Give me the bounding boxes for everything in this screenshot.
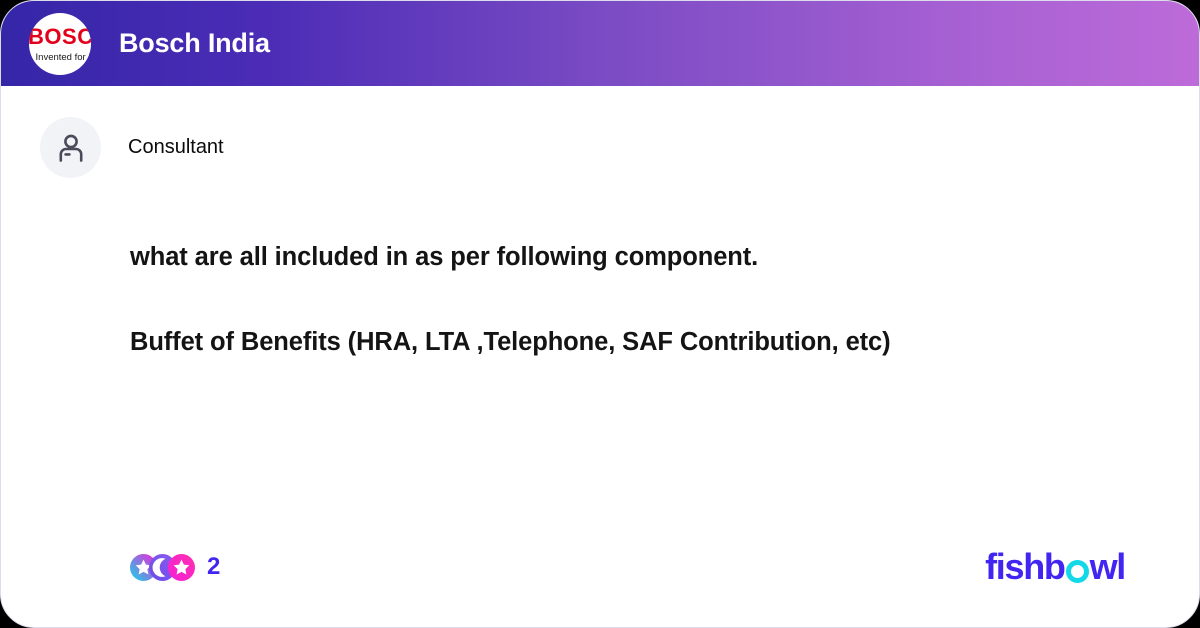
post-line: what are all included in as per followin… (130, 242, 1139, 273)
reaction-badges[interactable] (130, 554, 195, 581)
author-row: Consultant (1, 86, 1199, 178)
card-header: BOSCH Invented for life Bosch India (1, 1, 1199, 86)
bosch-logo-tagline: Invented for life (36, 53, 91, 63)
bosch-logo: BOSCH Invented for life (29, 13, 91, 75)
post-card: BOSCH Invented for life Bosch India Cons… (0, 0, 1200, 628)
fishbowl-logo-text-end: wl (1090, 549, 1125, 585)
bosch-logo-wordmark: BOSCH (29, 26, 91, 48)
card-footer: 2 fishb o wl (1, 543, 1199, 591)
reaction-count: 2 (207, 555, 220, 579)
fishbowl-logo-text-start: fishb (985, 549, 1065, 585)
post-line: Buffet of Benefits (HRA, LTA ,Telephone,… (130, 327, 1139, 358)
star-reaction-icon[interactable] (168, 554, 195, 581)
card-body: Consultant what are all included in as p… (1, 86, 1199, 627)
post-text: what are all included in as per followin… (1, 242, 1199, 357)
person-icon (54, 131, 88, 165)
company-name: Bosch India (119, 28, 270, 59)
fishbowl-logo-o-icon (1066, 560, 1089, 583)
fishbowl-logo: fishb o wl (985, 549, 1125, 585)
author-title: Consultant (128, 136, 224, 159)
reactions[interactable]: 2 (130, 554, 220, 581)
avatar (40, 117, 101, 178)
